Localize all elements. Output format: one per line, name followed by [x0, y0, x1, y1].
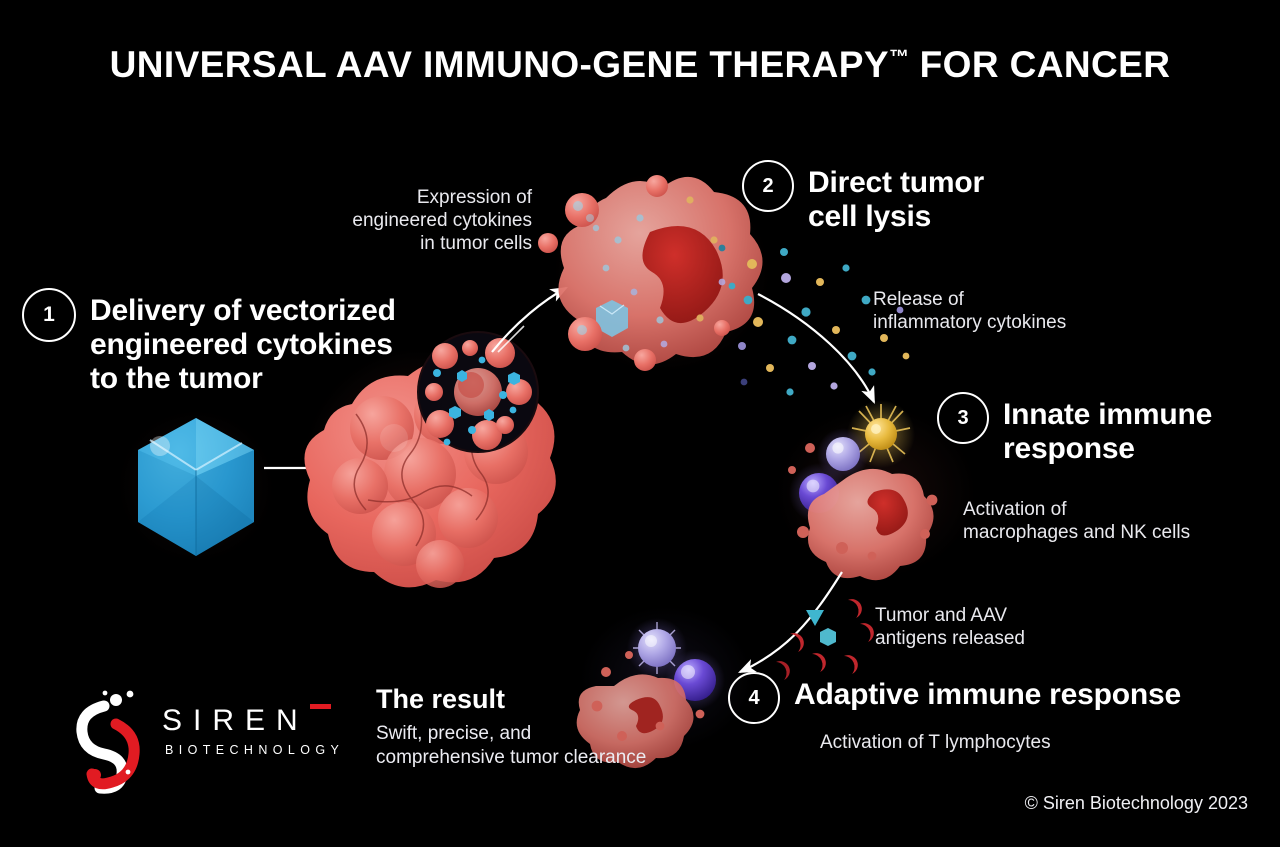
step-4-title: Adaptive immune response [794, 672, 1181, 712]
title-main: UNIVERSAL AAV IMMUNO-GENE THERAPY [110, 44, 889, 85]
inset-cells [425, 338, 532, 450]
logo-macron-accent [310, 704, 331, 709]
magnifier-inset [418, 326, 538, 452]
copyright-notice: © Siren Biotechnology 2023 [0, 793, 1248, 814]
nk-cell-deep [789, 463, 849, 523]
arrow-step1-to-step2 [492, 288, 566, 352]
siren-logo[interactable]: SIREN BIOTECHNOLOGY [52, 688, 322, 780]
infographic-canvas: UNIVERSAL AAV IMMUNO-GENE THERAPY™ FOR C… [0, 0, 1280, 847]
step-1-badge: 1 [22, 288, 76, 342]
step-1-title: Delivery of vectorized engineered cytoki… [90, 288, 396, 397]
step-4[interactable]: 4 Adaptive immune response [728, 672, 1181, 724]
antigen-shapes [776, 599, 874, 680]
step-4-badge: 4 [728, 672, 780, 724]
logo-tagline: BIOTECHNOLOGY [165, 743, 344, 757]
dendritic-cell [847, 400, 915, 468]
result-block: The result Swift, precise, and comprehen… [376, 684, 716, 770]
page-title: UNIVERSAL AAV IMMUNO-GENE THERAPY™ FOR C… [0, 44, 1280, 86]
debris-dots [788, 443, 937, 560]
result-heading: The result [376, 684, 716, 715]
t-cell-spiky [627, 618, 687, 678]
nk-cell-light [817, 428, 869, 480]
title-suffix: FOR CANCER [909, 44, 1170, 85]
budding-vesicles [538, 175, 730, 371]
step-2-badge: 2 [742, 160, 794, 212]
step-3[interactable]: 3 Innate immune response [937, 392, 1212, 466]
step-3-title: Innate immune response [1003, 392, 1212, 466]
arrow-step2-to-step3 [758, 294, 874, 402]
trademark-symbol: ™ [889, 47, 909, 69]
logo-wordmark: SIREN [162, 704, 309, 738]
step-3-badge: 3 [937, 392, 989, 444]
step-1[interactable]: 1 Delivery of vectorized engineered cyto… [22, 288, 396, 397]
caption-antigens: Tumor and AAV antigens released [875, 604, 1115, 650]
caption-activation: Activation of macrophages and NK cells [963, 498, 1263, 544]
inset-aav-particles [433, 357, 520, 446]
capsid-inside-cell [596, 300, 628, 337]
step-2-title: Direct tumor cell lysis [808, 160, 984, 234]
caption-release: Release of inflammatory cytokines [873, 288, 1173, 334]
lysing-tumor-cell [538, 172, 770, 372]
arrow-step3-to-step4 [740, 572, 842, 672]
caption-lymphocytes: Activation of T lymphocytes [820, 731, 1220, 754]
result-body: Swift, precise, and comprehensive tumor … [376, 722, 716, 770]
caption-expression: Expression of engineered cytokines in tu… [260, 186, 532, 256]
aav-capsid-icon [118, 410, 274, 562]
step-2[interactable]: 2 Direct tumor cell lysis [742, 160, 984, 234]
intracellular-cytokines [593, 196, 726, 351]
